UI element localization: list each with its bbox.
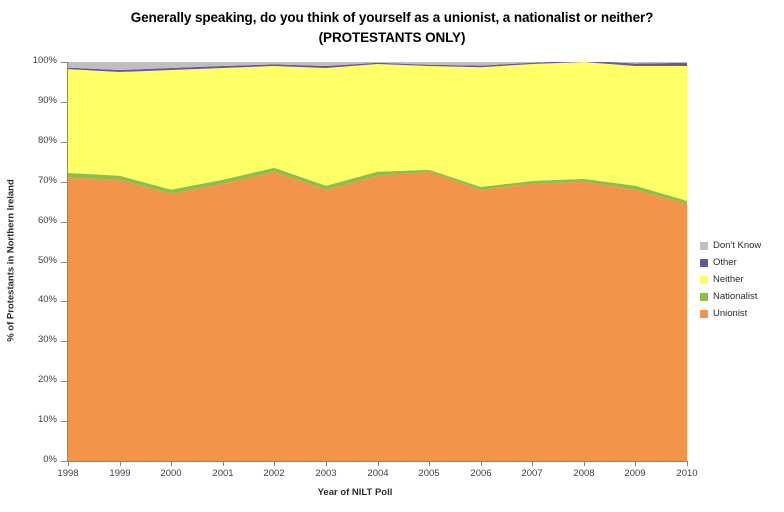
stacked-area-series-group bbox=[68, 62, 687, 461]
y-axis-tick bbox=[61, 381, 67, 382]
x-axis-tick-label: 2001 bbox=[203, 468, 243, 479]
y-axis-tick bbox=[61, 142, 67, 143]
area-series-unionist bbox=[68, 172, 687, 461]
x-axis-tick-label: 2010 bbox=[667, 468, 707, 479]
legend-item-label: Unionist bbox=[713, 308, 747, 319]
x-axis-tick bbox=[687, 461, 688, 466]
y-axis-tick bbox=[61, 461, 67, 462]
chart-legend: Don't KnowOtherNeitherNationalistUnionis… bbox=[700, 237, 761, 322]
y-axis-tick bbox=[61, 262, 67, 263]
x-axis-tick bbox=[378, 461, 379, 466]
x-axis-tick-label: 2004 bbox=[358, 468, 398, 479]
y-axis-tick bbox=[61, 341, 67, 342]
x-axis-title: Year of NILT Poll bbox=[0, 487, 710, 498]
y-axis-tick-label: 100% bbox=[0, 55, 57, 66]
x-axis-tick bbox=[120, 461, 121, 466]
chart-title-line-2: (PROTESTANTS ONLY) bbox=[0, 28, 784, 48]
legend-swatch-icon bbox=[700, 259, 708, 267]
x-axis-tick-label: 2008 bbox=[564, 468, 604, 479]
x-axis-tick bbox=[532, 461, 533, 466]
x-axis-tick bbox=[171, 461, 172, 466]
y-axis-tick bbox=[61, 102, 67, 103]
legend-swatch-icon bbox=[700, 242, 708, 250]
x-axis-tick-label: 2006 bbox=[461, 468, 501, 479]
x-axis-tick bbox=[326, 461, 327, 466]
x-axis-tick bbox=[274, 461, 275, 466]
legend-item-label: Neither bbox=[713, 274, 744, 285]
y-axis-tick-label: 80% bbox=[0, 135, 57, 146]
x-axis-tick bbox=[223, 461, 224, 466]
plot-area bbox=[68, 62, 687, 461]
chart-title-line-1: Generally speaking, do you think of your… bbox=[0, 8, 784, 28]
x-axis-tick-label: 2007 bbox=[512, 468, 552, 479]
y-axis-tick-label: 0% bbox=[0, 454, 57, 465]
legend-item-other[interactable]: Other bbox=[700, 254, 761, 271]
x-axis-tick bbox=[481, 461, 482, 466]
x-axis-tick bbox=[584, 461, 585, 466]
x-axis-tick-label: 2000 bbox=[151, 468, 191, 479]
x-axis-tick bbox=[68, 461, 69, 466]
y-axis-tick bbox=[61, 421, 67, 422]
legend-swatch-icon bbox=[700, 276, 708, 284]
y-axis-title: % of Protestants in Northern Ireland bbox=[6, 171, 17, 351]
x-axis-tick bbox=[635, 461, 636, 466]
x-axis-tick bbox=[429, 461, 430, 466]
y-axis-tick-label: 20% bbox=[0, 374, 57, 385]
legend-item-unionist[interactable]: Unionist bbox=[700, 305, 761, 322]
x-axis-tick-label: 2009 bbox=[615, 468, 655, 479]
y-axis-tick bbox=[61, 301, 67, 302]
legend-item-don-t-know[interactable]: Don't Know bbox=[700, 237, 761, 254]
y-axis-tick bbox=[61, 222, 67, 223]
x-axis-tick-label: 2003 bbox=[306, 468, 346, 479]
legend-swatch-icon bbox=[700, 310, 708, 318]
legend-item-neither[interactable]: Neither bbox=[700, 271, 761, 288]
y-axis-tick-label: 10% bbox=[0, 414, 57, 425]
legend-swatch-icon bbox=[700, 293, 708, 301]
legend-item-label: Nationalist bbox=[713, 291, 757, 302]
y-axis-tick bbox=[61, 182, 67, 183]
chart-container: Generally speaking, do you think of your… bbox=[0, 0, 784, 512]
x-axis-tick-label: 2002 bbox=[254, 468, 294, 479]
chart-title: Generally speaking, do you think of your… bbox=[0, 8, 784, 48]
legend-item-label: Other bbox=[713, 257, 737, 268]
y-axis-tick bbox=[61, 62, 67, 63]
legend-item-nationalist[interactable]: Nationalist bbox=[700, 288, 761, 305]
x-axis-tick-label: 1999 bbox=[100, 468, 140, 479]
x-axis-tick-label: 2005 bbox=[409, 468, 449, 479]
legend-item-label: Don't Know bbox=[713, 240, 761, 251]
x-axis-tick-label: 1998 bbox=[48, 468, 88, 479]
y-axis-tick-label: 90% bbox=[0, 95, 57, 106]
